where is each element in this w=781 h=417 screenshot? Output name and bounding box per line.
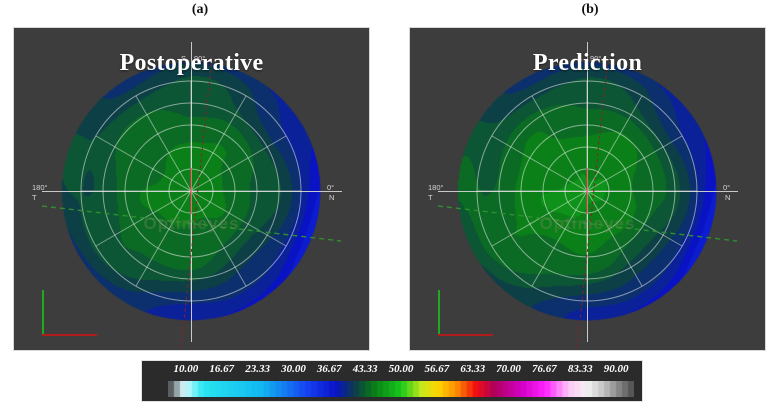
colorbar-tick-12: 90.00: [604, 363, 629, 375]
orientation-axis-vertical-icon: [42, 290, 44, 336]
colorbar-tick-5: 43.33: [353, 363, 378, 375]
orientation-marker-a: [34, 288, 94, 340]
axis-label-180deg-b: 180°: [428, 183, 444, 192]
axis-label-temporal-b: T: [428, 193, 433, 202]
map-canvas-b: Optimeyes Prediction S 90° I 270° 180° T…: [410, 28, 765, 350]
axis-label-nasal-b: N: [725, 193, 730, 202]
colorbar-gradient: [168, 381, 634, 397]
orientation-axis-vertical-icon: [438, 290, 440, 336]
colorbar-tick-9: 70.00: [496, 363, 521, 375]
colorbar-tick-8: 63.33: [460, 363, 485, 375]
topography-map-panel-b[interactable]: Optimeyes Prediction S 90° I 270° 180° T…: [409, 27, 766, 351]
axis-horizontal-a: [42, 191, 342, 192]
colorbar-tick-11: 83.33: [568, 363, 593, 375]
panel-caption-a: (a): [170, 2, 230, 18]
colorbar-tick-labels: 10.0016.6723.3330.0036.6743.3350.0056.67…: [142, 363, 642, 379]
colorbar-tick-4: 36.67: [317, 363, 342, 375]
colorbar-tick-6: 50.00: [389, 363, 414, 375]
axis-label-180deg-a: 180°: [32, 183, 48, 192]
axis-label-0deg-a: 0°: [327, 183, 334, 192]
axis-label-superior-b: S: [577, 54, 582, 63]
axis-label-superior-a: S: [181, 54, 186, 63]
orientation-axis-horizontal-icon: [438, 334, 493, 336]
axis-label-nasal-a: N: [329, 193, 334, 202]
axis-horizontal-b: [438, 191, 738, 192]
axis-vertical-b: [587, 42, 588, 342]
topography-map-panel-a[interactable]: Optimeyes Postoperative S 90° I 270° 180…: [13, 27, 370, 351]
orientation-axis-horizontal-icon: [42, 334, 97, 336]
colorbar-tick-1: 16.67: [209, 363, 234, 375]
colorbar-tick-0: 10.00: [174, 363, 199, 375]
axis-label-90deg-a: 90°: [194, 54, 205, 63]
figure-root: (a) (b): [0, 0, 781, 417]
colorbar-tick-7: 56.67: [424, 363, 449, 375]
colorbar-tick-10: 76.67: [532, 363, 557, 375]
axis-vertical-a: [191, 42, 192, 342]
colorbar-tick-2: 23.33: [245, 363, 270, 375]
axis-label-0deg-b: 0°: [723, 183, 730, 192]
panel-caption-b: (b): [560, 2, 620, 18]
map-canvas-a: Optimeyes Postoperative S 90° I 270° 180…: [14, 28, 369, 350]
axis-label-90deg-b: 90°: [590, 54, 601, 63]
axis-label-temporal-a: T: [32, 193, 37, 202]
colorbar-tick-3: 30.00: [281, 363, 306, 375]
colorbar-panel: 10.0016.6723.3330.0036.6743.3350.0056.67…: [141, 360, 643, 402]
orientation-marker-b: [430, 288, 490, 340]
